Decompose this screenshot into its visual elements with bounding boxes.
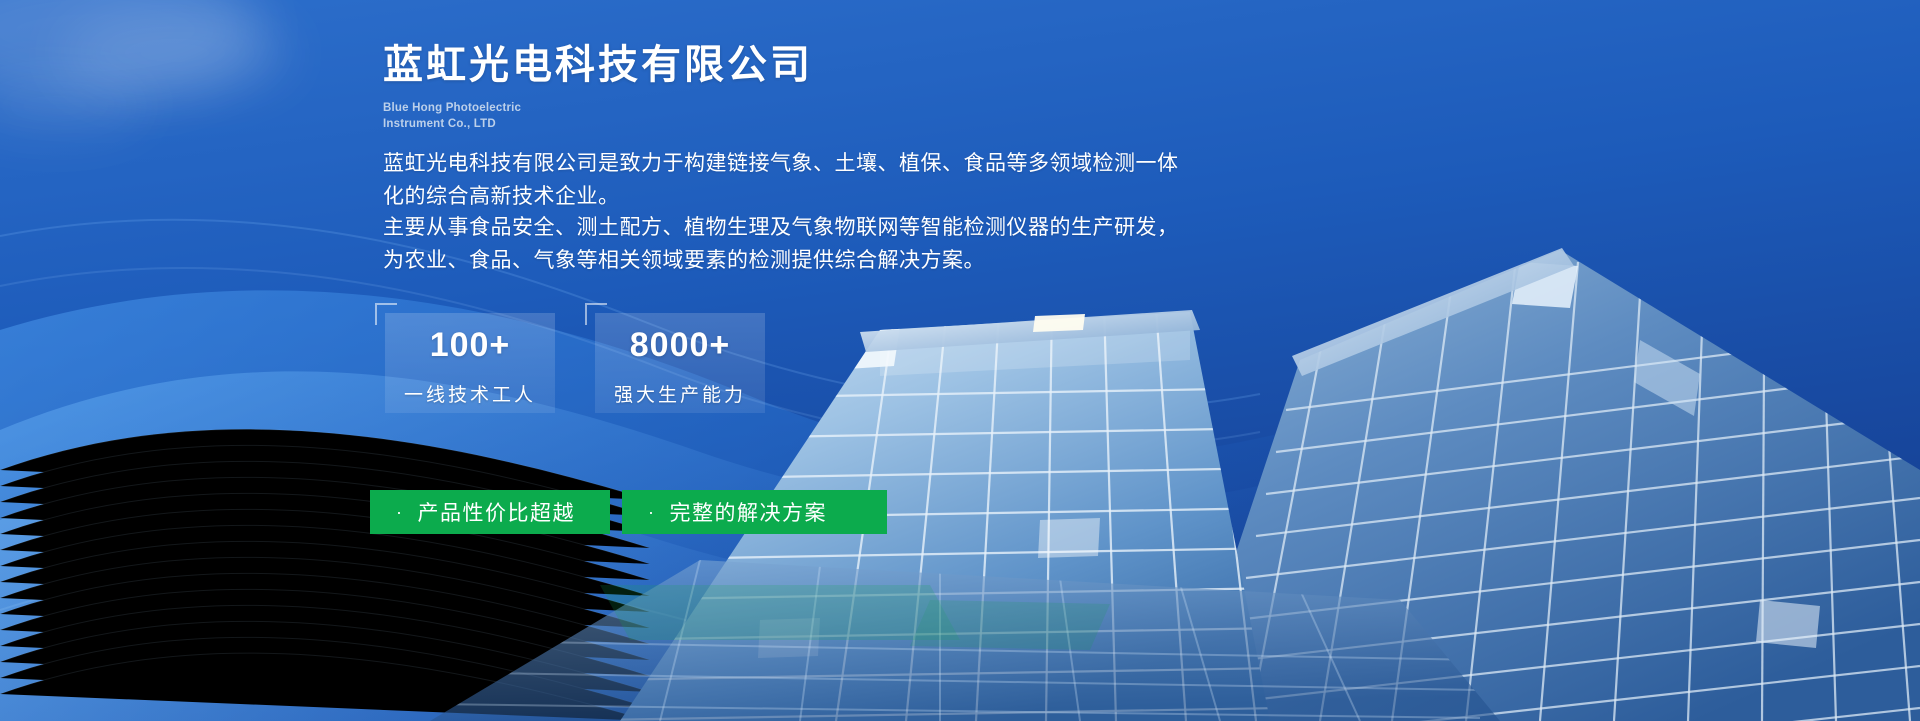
stat-label: 一线技术工人 <box>385 380 555 407</box>
banner-content: 蓝虹光电科技有限公司 Blue Hong Photoelectric Instr… <box>0 0 1920 721</box>
company-english-line-2: Instrument Co., LTD <box>383 117 813 133</box>
stat-number: 8000+ <box>595 327 765 364</box>
stat-label: 强大生产能力 <box>595 380 765 407</box>
feature-tag-label: 产品性价比超越 <box>418 497 576 527</box>
feature-tag-value[interactable]: · 产品性价比超越 <box>370 490 610 534</box>
company-english-line-1: Blue Hong Photoelectric <box>383 101 813 117</box>
stat-card-capacity: 8000+ 强大生产能力 <box>595 313 765 413</box>
feature-tag-label: 完整的解决方案 <box>670 497 828 527</box>
hero-banner: 蓝虹光电科技有限公司 Blue Hong Photoelectric Instr… <box>0 0 1920 721</box>
company-title: 蓝虹光电科技有限公司 <box>383 40 813 90</box>
company-description-paragraph-2: 主要从事食品安全、测土配方、植物生理及气象物联网等智能检测仪器的生产研发，为农业… <box>383 212 1183 277</box>
brand-block: 蓝虹光电科技有限公司 Blue Hong Photoelectric Instr… <box>383 40 813 132</box>
feature-tag-group: · 产品性价比超越 · 完整的解决方案 <box>370 490 887 534</box>
company-title-english: Blue Hong Photoelectric Instrument Co., … <box>383 101 813 132</box>
stat-card-workers: 100+ 一线技术工人 <box>385 313 555 413</box>
bullet-icon: · <box>396 503 404 521</box>
bullet-icon: · <box>648 503 656 521</box>
company-description-paragraph-1: 蓝虹光电科技有限公司是致力于构建链接气象、土壤、植保、食品等多领域检测一体化的综… <box>383 148 1183 213</box>
statistics-group: 100+ 一线技术工人 8000+ 强大生产能力 <box>385 313 765 413</box>
feature-tag-solution[interactable]: · 完整的解决方案 <box>622 490 887 534</box>
stat-number: 100+ <box>385 327 555 364</box>
